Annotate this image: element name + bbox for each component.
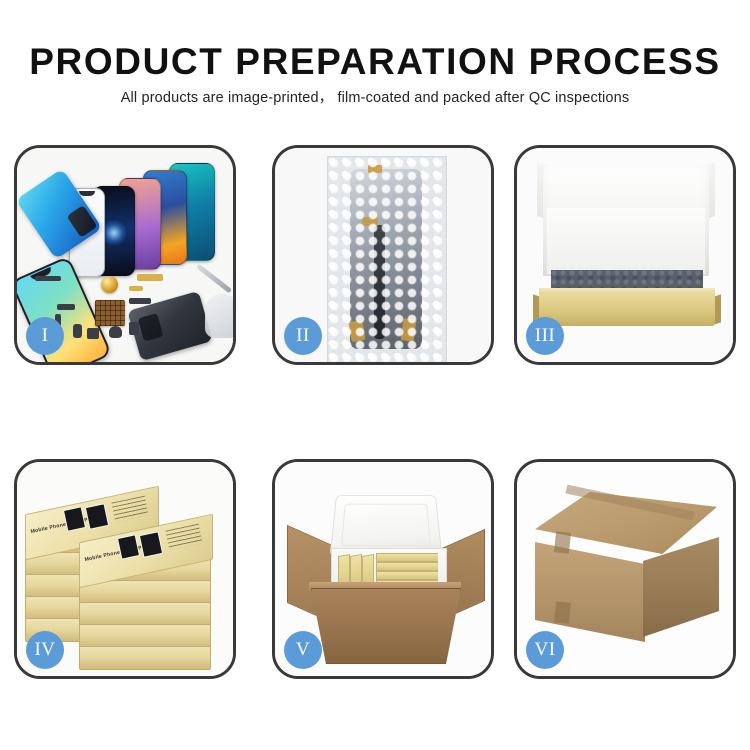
carton-tape-lower — [554, 601, 571, 623]
step-badge-6: VI — [526, 631, 564, 669]
screen-flex-cable — [374, 225, 385, 339]
carton-tape-upper — [554, 531, 571, 553]
carton-body — [311, 588, 461, 664]
step-badge-1: I — [26, 317, 64, 355]
logic-board-chip — [95, 300, 125, 326]
spare-part-taptic — [109, 326, 122, 338]
step-badge-5: V — [284, 631, 322, 669]
process-step-panel-1[interactable]: I — [14, 145, 236, 365]
bag-tape-top — [368, 165, 382, 173]
process-step-panel-3[interactable]: III — [514, 145, 736, 365]
inner-kraft-box-5 — [376, 562, 438, 571]
technician-hand — [205, 294, 233, 338]
process-step-panel-4[interactable]: Mobile Phone Spare Parts Mobile Phone Sp… — [14, 459, 236, 679]
step-badge-3: III — [526, 317, 564, 355]
spare-part-ribbon-a — [137, 274, 163, 281]
spare-part-camera — [129, 322, 139, 335]
spare-part-flex-c — [129, 298, 151, 304]
spare-part-ribbon-b — [129, 286, 143, 291]
inner-kraft-box-4 — [376, 553, 438, 562]
process-step-grid: I II — [14, 145, 736, 679]
spare-part-bracket — [87, 328, 99, 339]
kraft-box-front — [539, 294, 715, 326]
kraft-box-front-5 — [79, 646, 211, 670]
kraft-box-front-4 — [79, 624, 211, 648]
kraft-box-front-3 — [79, 602, 211, 626]
page-subtitle: All products are image-printed， film-coa… — [0, 88, 750, 108]
inner-kraft-box-6 — [376, 571, 438, 580]
foam-sheet — [547, 208, 705, 274]
connector-mid — [362, 217, 378, 226]
step-badge-2: II — [284, 317, 322, 355]
speaker-module — [101, 276, 118, 293]
step-badge-4: IV — [26, 631, 64, 669]
bubble-wrap-bag — [327, 156, 447, 362]
spare-part-bar — [35, 276, 61, 281]
spare-part-sim-tray — [73, 324, 82, 338]
page-header: PRODUCT PREPARATION PROCESS All products… — [0, 0, 750, 128]
process-step-panel-6[interactable]: VI — [514, 459, 736, 679]
spare-part-flex-a — [57, 304, 75, 310]
page-title: PRODUCT PREPARATION PROCESS — [0, 40, 750, 84]
process-step-panel-5[interactable]: V — [272, 459, 494, 679]
process-step-panel-2[interactable]: II — [272, 145, 494, 365]
